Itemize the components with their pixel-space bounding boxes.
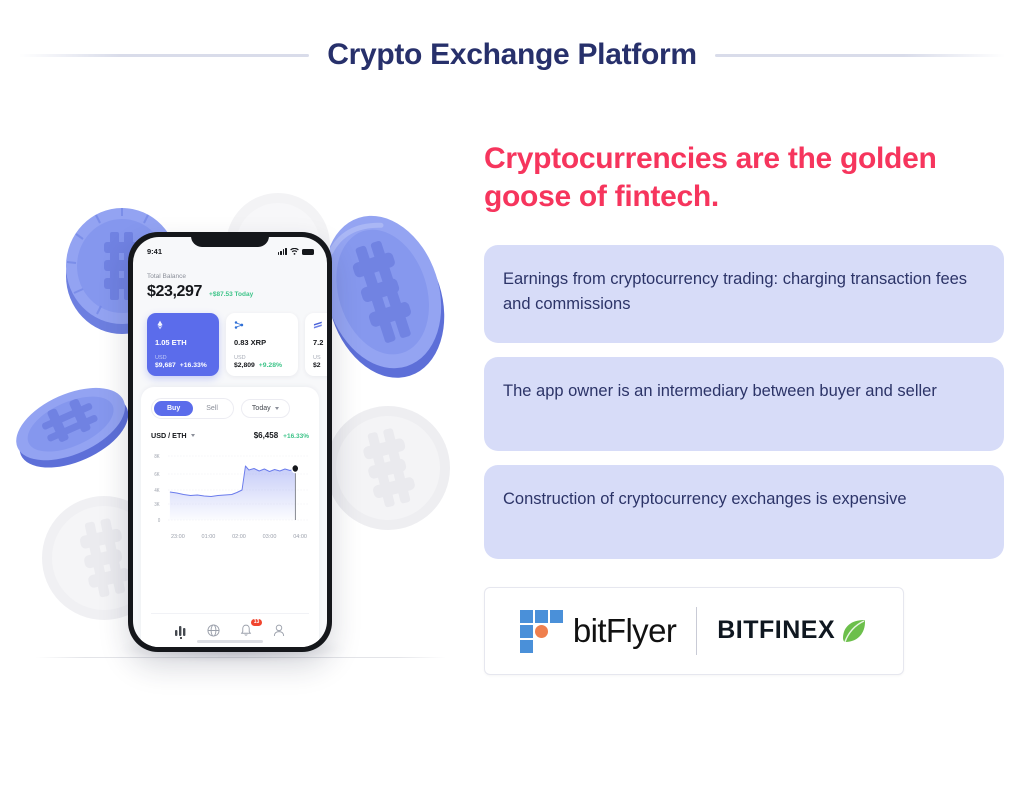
- bullet-text: Earnings from cryptocurrency trading: ch…: [503, 270, 967, 314]
- bullet-text: The app owner is an intermediary between…: [503, 382, 937, 400]
- stellar-icon: [313, 320, 323, 330]
- svg-text:0: 0: [158, 518, 161, 523]
- coin-bitcoin-gray-right: [318, 398, 458, 538]
- wifi-icon: [290, 248, 299, 255]
- x-tick: 03:00: [263, 534, 277, 540]
- partner-logo-card: bitFlyer BITFINEX: [484, 587, 904, 675]
- active-tab-indicator: [180, 637, 182, 639]
- svg-text:3K: 3K: [154, 502, 160, 507]
- pair-price-change: +16.33%: [283, 433, 309, 440]
- pair-row: USD / ETH $6,458 +16.33%: [151, 431, 309, 440]
- asset-currency: US: [313, 355, 327, 361]
- tab-markets[interactable]: [204, 622, 224, 640]
- header-rule-right: [715, 54, 1005, 57]
- pair-label: USD / ETH: [151, 431, 187, 440]
- asset-value-row: $2: [313, 362, 327, 369]
- asset-card-eth[interactable]: 1.05 ETH USD $9,687 +16.33%: [147, 313, 219, 376]
- x-tick: 02:00: [232, 534, 246, 540]
- balance-amount: $23,297: [147, 283, 202, 301]
- asset-currency: USD: [155, 355, 211, 361]
- buy-sell-segmented: Buy Sell: [151, 398, 234, 419]
- content-column: Cryptocurrencies are the golden goose of…: [484, 140, 1004, 675]
- asset-amount: 0.83 XRP: [234, 338, 290, 347]
- chevron-down-icon: [191, 434, 195, 437]
- asset-value-row: $2,809 +9.28%: [234, 362, 290, 369]
- asset-card-list: 1.05 ETH USD $9,687 +16.33%: [133, 311, 327, 376]
- home-indicator: [197, 640, 263, 643]
- coin-ethereum-blue-left: [6, 370, 136, 480]
- sell-button[interactable]: Sell: [193, 401, 231, 416]
- header-rule-left: [19, 54, 309, 57]
- asset-card-third[interactable]: 7.2 US $2: [305, 313, 327, 376]
- buy-button[interactable]: Buy: [154, 401, 193, 416]
- bitfinex-wordmark: BITFINEX: [717, 616, 835, 645]
- asset-value: $2: [313, 362, 321, 369]
- bullet-text: Construction of cryptocurrency exchanges…: [503, 490, 907, 508]
- phone-illustration: 9:41 Total Balance $: [0, 170, 470, 690]
- asset-value: $2,809: [234, 362, 255, 369]
- trade-controls: Buy Sell Today: [151, 398, 309, 419]
- phone-mockup: 9:41 Total Balance $: [128, 232, 332, 652]
- bitflyer-mark-icon: [520, 610, 562, 652]
- asset-value: $9,687: [155, 362, 176, 369]
- balance-block: Total Balance $23,297 +$87.53 Today: [133, 259, 327, 311]
- tab-profile[interactable]: [269, 622, 289, 640]
- bullet-card-1: Earnings from cryptocurrency trading: ch…: [484, 245, 1004, 343]
- svg-text:4K: 4K: [154, 488, 160, 493]
- headline: Cryptocurrencies are the golden goose of…: [484, 140, 1004, 217]
- x-tick: 04:00: [293, 534, 307, 540]
- pair-dropdown[interactable]: USD / ETH: [151, 431, 195, 440]
- balance-row: $23,297 +$87.53 Today: [147, 283, 313, 301]
- asset-amount: 7.2: [313, 338, 327, 347]
- x-tick: 23:00: [171, 534, 185, 540]
- status-time: 9:41: [147, 247, 162, 256]
- signal-bars-icon: [278, 248, 287, 255]
- bitflyer-wordmark: bitFlyer: [573, 612, 676, 650]
- notification-badge: 13: [251, 619, 263, 627]
- asset-change: +16.33%: [180, 362, 207, 369]
- asset-currency: USD: [234, 355, 290, 361]
- phone-notch: [191, 232, 269, 247]
- pair-price: $6,458: [254, 431, 278, 440]
- price-row: $6,458 +16.33%: [254, 431, 309, 440]
- balance-delta: +$87.53 Today: [209, 291, 253, 298]
- asset-change: +9.28%: [259, 362, 282, 369]
- chart-x-axis: 23:00 01:00 02:00 03:00 04:00: [151, 531, 309, 540]
- bullet-card-3: Construction of cryptocurrency exchanges…: [484, 465, 1004, 559]
- price-chart: 8K 6K 4K 3K 0: [151, 448, 309, 613]
- logo-divider: [696, 607, 697, 655]
- ripple-icon: [234, 320, 244, 330]
- trading-panel: Buy Sell Today USD / ETH: [141, 387, 319, 647]
- person-icon: [273, 624, 285, 637]
- battery-icon: [302, 249, 314, 255]
- bitfinex-leaf-icon: [838, 616, 868, 646]
- bottom-tab-bar: 13: [151, 613, 309, 647]
- tab-notifications[interactable]: 13: [236, 622, 256, 640]
- asset-amount: 1.05 ETH: [155, 338, 211, 347]
- svg-text:6K: 6K: [154, 472, 160, 477]
- globe-icon: [207, 624, 220, 637]
- ethereum-icon: [155, 320, 165, 330]
- chevron-down-icon: [275, 407, 279, 410]
- status-icons: [278, 248, 314, 255]
- bell-icon: [240, 624, 252, 637]
- svg-text:8K: 8K: [154, 454, 160, 459]
- asset-value-row: $9,687 +16.33%: [155, 362, 211, 369]
- bitflyer-logo: bitFlyer: [520, 610, 676, 652]
- phone-screen: 9:41 Total Balance $: [133, 237, 327, 647]
- page-title: Crypto Exchange Platform: [327, 38, 697, 72]
- price-chart-svg: 8K 6K 4K 3K 0: [151, 448, 309, 531]
- period-dropdown[interactable]: Today: [241, 399, 290, 418]
- bitfinex-logo: BITFINEX: [717, 616, 868, 646]
- slide-root: Crypto Exchange Platform: [0, 0, 1024, 804]
- asset-card-xrp[interactable]: 0.83 XRP USD $2,809 +9.28%: [226, 313, 298, 376]
- period-label: Today: [252, 405, 271, 412]
- x-tick: 01:00: [202, 534, 216, 540]
- tab-portfolio[interactable]: [171, 622, 191, 640]
- bullet-card-2: The app owner is an intermediary between…: [484, 357, 1004, 451]
- page-header: Crypto Exchange Platform: [0, 38, 1024, 72]
- balance-label: Total Balance: [147, 273, 313, 280]
- bar-chart-icon: [175, 625, 188, 636]
